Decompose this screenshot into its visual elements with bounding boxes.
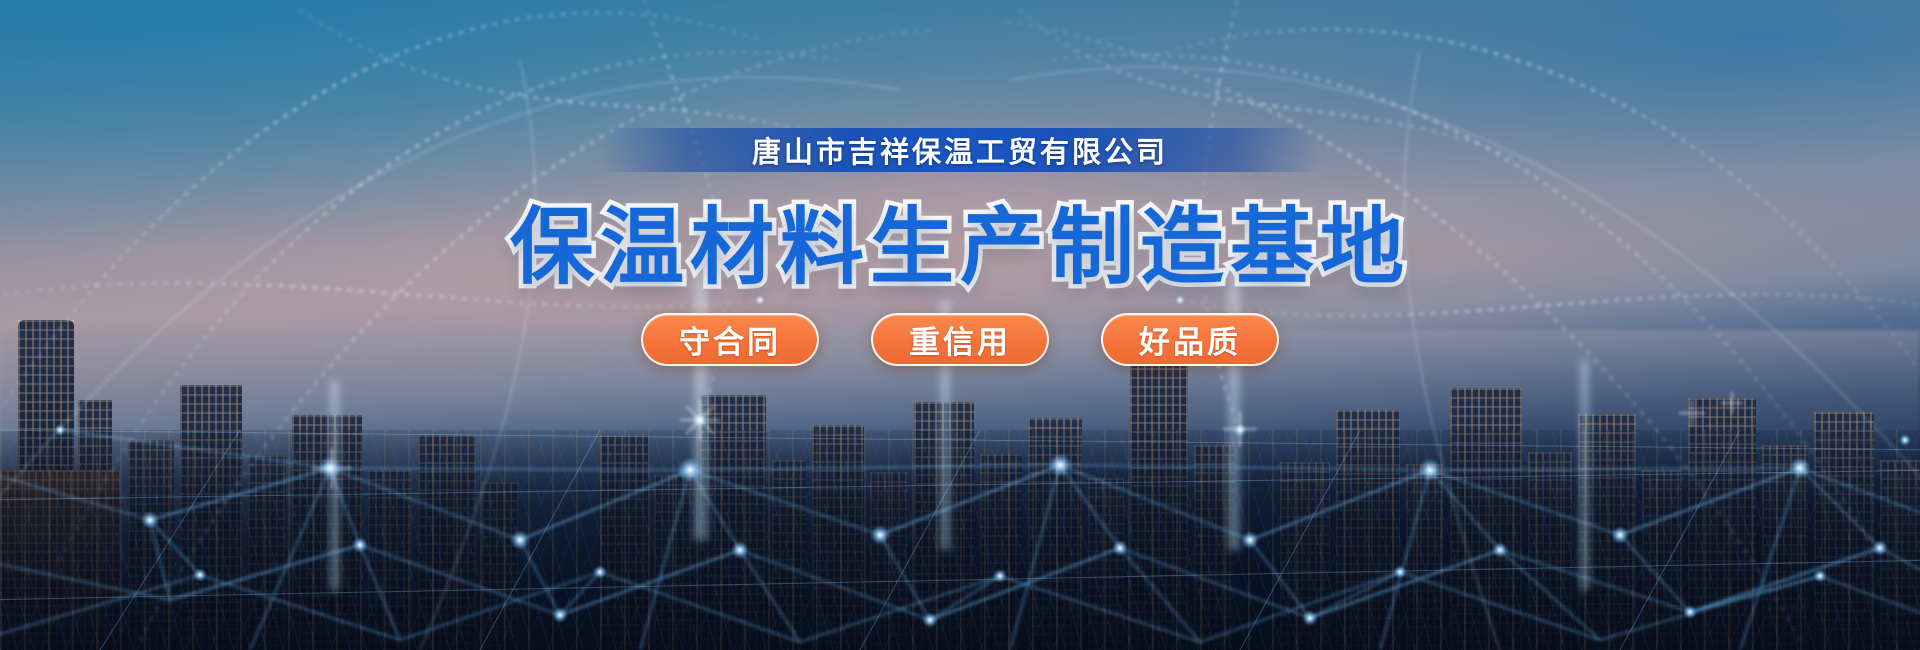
banner-content: 唐山市吉祥保温工贸有限公司 保温材料生产制造基地 守合同 重信用 好品质 <box>0 0 1920 650</box>
company-name: 唐山市吉祥保温工贸有限公司 <box>752 129 1168 171</box>
slogan-badge-label: 守合同 <box>679 317 781 362</box>
company-name-bar: 唐山市吉祥保温工贸有限公司 <box>600 128 1320 172</box>
slogan-badge-label: 好品质 <box>1139 317 1241 362</box>
slogan-badge-credit[interactable]: 重信用 <box>871 313 1049 366</box>
hero-banner: 唐山市吉祥保温工贸有限公司 保温材料生产制造基地 守合同 重信用 好品质 <box>0 0 1920 650</box>
slogan-badge-contract[interactable]: 守合同 <box>641 313 819 366</box>
page-title: 保温材料生产制造基地 <box>510 180 1410 301</box>
slogan-badge-quality[interactable]: 好品质 <box>1101 313 1279 366</box>
slogan-badge-label: 重信用 <box>909 317 1011 362</box>
slogan-badge-group: 守合同 重信用 好品质 <box>641 313 1279 366</box>
